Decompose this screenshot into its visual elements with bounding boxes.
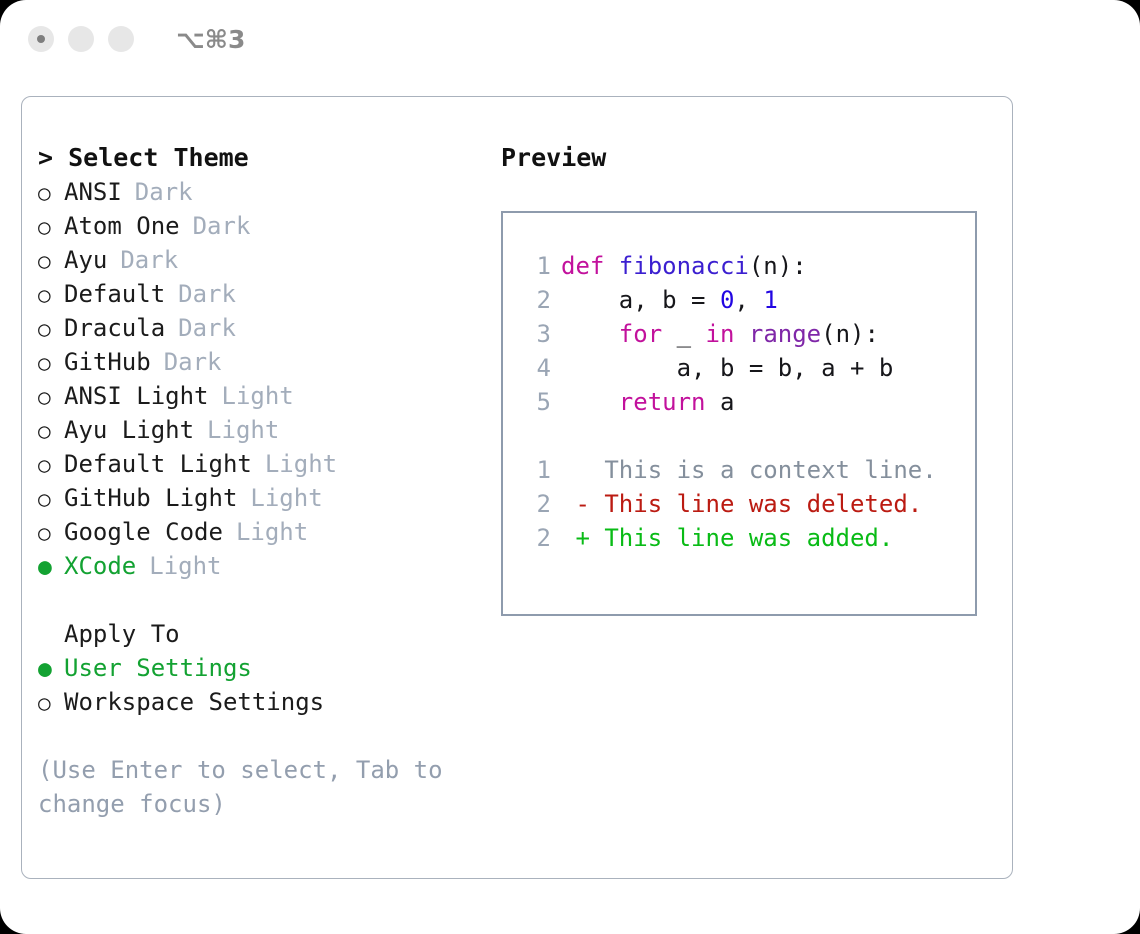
theme-list-column: > Select Theme ○ANSIDark○Atom OneDark○Ay…	[38, 141, 488, 821]
apply-to-heading: Apply To	[38, 617, 488, 651]
diff-sample: 1 This is a context line.2 - This line w…	[515, 453, 975, 555]
preview-heading: Preview	[501, 141, 993, 175]
theme-option-kind: Dark	[164, 345, 222, 379]
radio-unselected-icon: ○	[38, 448, 64, 482]
preview-box: 1def fibonacci(n):2 a, b = 0, 13 for _ i…	[501, 211, 977, 616]
code-sample: 1def fibonacci(n):2 a, b = 0, 13 for _ i…	[515, 249, 975, 419]
code-token-txt: (n):	[821, 320, 879, 348]
theme-option-kind: Dark	[135, 175, 193, 209]
code-token-txt: (n):	[749, 252, 807, 280]
theme-option-github[interactable]: ○GitHubDark	[38, 345, 488, 379]
theme-option-default[interactable]: ○DefaultDark	[38, 277, 488, 311]
code-token-kw: def	[561, 252, 619, 280]
theme-option-kind: Light	[250, 481, 322, 515]
theme-option-ayu[interactable]: ○AyuDark	[38, 243, 488, 277]
line-number: 5	[515, 385, 551, 419]
code-line: 2 - This line was deleted.	[515, 487, 975, 521]
radio-selected-icon: ●	[38, 550, 64, 584]
traffic-light-close[interactable]	[28, 26, 54, 52]
theme-option-github-light[interactable]: ○GitHub LightLight	[38, 481, 488, 515]
apply-to-option-label: Workspace Settings	[64, 685, 324, 719]
code-token-txt: ,	[734, 286, 763, 314]
list-spacer	[38, 583, 488, 617]
theme-option-name: XCode	[64, 549, 136, 583]
preview-column: Preview 1def fibonacci(n):2 a, b = 0, 13…	[501, 141, 993, 616]
code-token-del: - This line was deleted.	[561, 490, 922, 518]
code-line-content: return a	[561, 385, 734, 419]
line-number: 2	[515, 487, 551, 521]
hint-spacer	[38, 719, 488, 753]
line-number: 4	[515, 351, 551, 385]
theme-option-kind: Dark	[178, 277, 236, 311]
theme-option-atom-one[interactable]: ○Atom OneDark	[38, 209, 488, 243]
theme-option-name: Google Code	[64, 515, 223, 549]
keyboard-hint: (Use Enter to select, Tab to change focu…	[38, 753, 448, 821]
code-token-add: + This line was added.	[561, 524, 893, 552]
theme-option-name: GitHub	[64, 345, 151, 379]
code-token-txt: a	[706, 388, 735, 416]
theme-option-kind: Dark	[193, 209, 251, 243]
code-line-content: This is a context line.	[561, 453, 937, 487]
code-token-txt	[561, 320, 619, 348]
code-token-fn: fibonacci	[619, 252, 749, 280]
theme-option-name: Ayu	[64, 243, 107, 277]
theme-option-xcode[interactable]: ●XCodeLight	[38, 549, 488, 583]
code-token-txt: a, b =	[561, 286, 720, 314]
theme-option-google-code[interactable]: ○Google CodeLight	[38, 515, 488, 549]
theme-option-name: Atom One	[64, 209, 180, 243]
code-token-num: 1	[763, 286, 777, 314]
title-bar: ⌥⌘3	[0, 0, 1140, 78]
line-number: 3	[515, 317, 551, 351]
theme-option-kind: Light	[236, 515, 308, 549]
code-line: 5 return a	[515, 385, 975, 419]
code-token-kw: for	[619, 320, 662, 348]
code-line-content: for _ in range(n):	[561, 317, 879, 351]
traffic-light-maximize[interactable]	[108, 26, 134, 52]
theme-option-name: ANSI Light	[64, 379, 209, 413]
code-token-num: 0	[720, 286, 734, 314]
apply-to-option-workspace-settings[interactable]: ○Workspace Settings	[38, 685, 488, 719]
code-token-kw: in	[706, 320, 735, 348]
code-token-txt: _	[662, 320, 705, 348]
code-line: 4 a, b = b, a + b	[515, 351, 975, 385]
code-line-content: a, b = b, a + b	[561, 351, 893, 385]
line-number: 2	[515, 521, 551, 555]
apply-to-option-label: User Settings	[64, 651, 252, 685]
code-line: 2 a, b = 0, 1	[515, 283, 975, 317]
code-token-ctx: This is a context line.	[561, 456, 937, 484]
code-line-content: a, b = 0, 1	[561, 283, 778, 317]
app-window: ⌥⌘3 > Select Theme ○ANSIDark○Atom OneDar…	[0, 0, 1140, 934]
radio-unselected-icon: ○	[38, 312, 64, 346]
radio-unselected-icon: ○	[38, 380, 64, 414]
radio-unselected-icon: ○	[38, 482, 64, 516]
radio-unselected-icon: ○	[38, 414, 64, 448]
theme-option-kind: Dark	[120, 243, 178, 277]
code-token-kw: return	[619, 388, 706, 416]
radio-unselected-icon: ○	[38, 516, 64, 550]
code-line: 1 This is a context line.	[515, 453, 975, 487]
theme-option-kind: Dark	[178, 311, 236, 345]
code-line: 3 for _ in range(n):	[515, 317, 975, 351]
code-token-txt: a, b = b, a + b	[561, 354, 893, 382]
theme-option-ayu-light[interactable]: ○Ayu LightLight	[38, 413, 488, 447]
theme-option-kind: Light	[222, 379, 294, 413]
radio-unselected-icon: ○	[38, 346, 64, 380]
theme-option-ansi[interactable]: ○ANSIDark	[38, 175, 488, 209]
theme-option-name: ANSI	[64, 175, 122, 209]
theme-option-dracula[interactable]: ○DraculaDark	[38, 311, 488, 345]
traffic-light-active-indicator	[37, 35, 45, 43]
code-line: 2 + This line was added.	[515, 521, 975, 555]
apply-to-option-user-settings[interactable]: ●User Settings	[38, 651, 488, 685]
keyboard-shortcut-label: ⌥⌘3	[176, 25, 245, 54]
theme-option-name: Ayu Light	[64, 413, 194, 447]
code-line-content: + This line was added.	[561, 521, 893, 555]
theme-picker-panel: > Select Theme ○ANSIDark○Atom OneDark○Ay…	[21, 96, 1013, 879]
line-number: 1	[515, 453, 551, 487]
code-line-content: def fibonacci(n):	[561, 249, 807, 283]
theme-option-name: Dracula	[64, 311, 165, 345]
select-theme-heading: > Select Theme	[38, 141, 488, 175]
code-token-txt	[561, 388, 619, 416]
radio-unselected-icon: ○	[38, 686, 64, 720]
code-line-content: - This line was deleted.	[561, 487, 922, 521]
theme-option-kind: Light	[207, 413, 279, 447]
code-token-fn2: range	[749, 320, 821, 348]
apply-to-options: ●User Settings○Workspace Settings	[38, 651, 488, 719]
theme-option-name: GitHub Light	[64, 481, 237, 515]
radio-unselected-icon: ○	[38, 210, 64, 244]
theme-option-kind: Light	[149, 549, 221, 583]
radio-selected-icon: ●	[38, 652, 64, 686]
theme-option-default-light[interactable]: ○Default LightLight	[38, 447, 488, 481]
code-token-txt	[734, 320, 748, 348]
line-number: 2	[515, 283, 551, 317]
radio-unselected-icon: ○	[38, 244, 64, 278]
code-line: 1def fibonacci(n):	[515, 249, 975, 283]
theme-option-name: Default Light	[64, 447, 252, 481]
theme-list: ○ANSIDark○Atom OneDark○AyuDark○DefaultDa…	[38, 175, 488, 583]
radio-unselected-icon: ○	[38, 278, 64, 312]
theme-option-kind: Light	[265, 447, 337, 481]
radio-unselected-icon: ○	[38, 176, 64, 210]
traffic-light-minimize[interactable]	[68, 26, 94, 52]
theme-option-ansi-light[interactable]: ○ANSI LightLight	[38, 379, 488, 413]
line-number: 1	[515, 249, 551, 283]
code-diff-spacer	[515, 419, 975, 453]
theme-option-name: Default	[64, 277, 165, 311]
